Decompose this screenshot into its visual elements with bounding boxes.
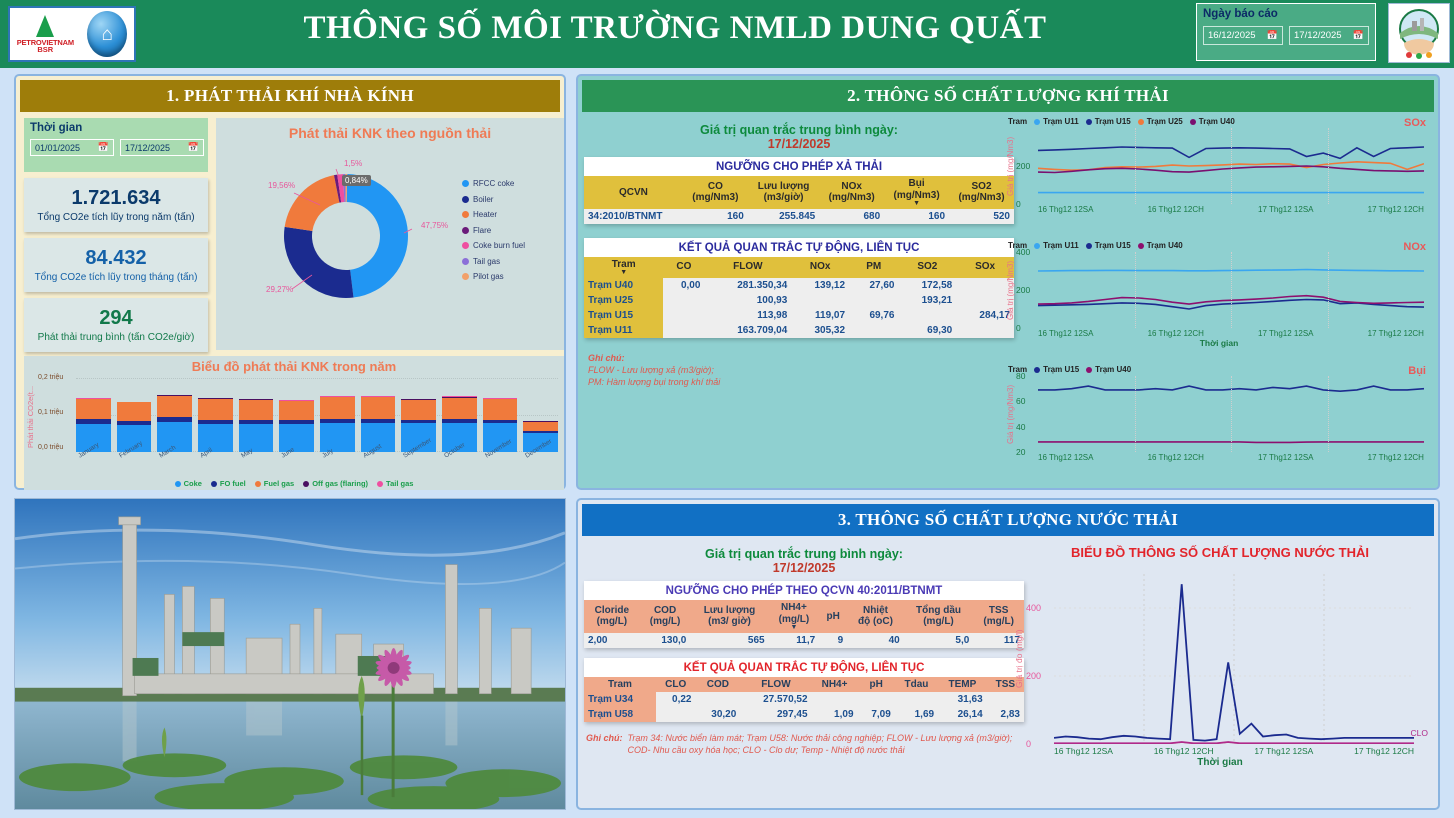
chart-plot-area: Giá trị (mg/Nm3)4002000 (1038, 252, 1424, 328)
bar-segment (117, 402, 152, 421)
column-header[interactable]: Tổng dầu(mg/L) (904, 600, 974, 633)
legend-label: Boiler (473, 195, 493, 204)
chart-xtick-label: 16 Thg12 12SA (1038, 453, 1093, 462)
bar-segment (76, 399, 111, 419)
legend-color-dot (462, 211, 469, 218)
header-line-1: TEMP (942, 679, 983, 691)
column-header[interactable]: Cloride(mg/L) (584, 600, 640, 633)
column-header[interactable]: FLOW (704, 257, 791, 278)
table-cell: 281.350,34 (704, 278, 791, 293)
table-cell (656, 707, 696, 722)
table-cell: 255.845 (748, 209, 819, 224)
chart-gridline (1231, 376, 1232, 452)
section2-average-heading: Giá trị quan trắc trung bình ngày: 17/12… (584, 123, 1014, 151)
section-air-quality: 2. THÔNG SỐ CHẤT LƯỢNG KHÍ THẢI Giá trị … (576, 74, 1440, 490)
petrovietnam-logo: PETROVIETNAM BSR (17, 15, 74, 54)
legend-color-dot (1190, 119, 1196, 125)
donut-legend-item[interactable]: Pilot gas (462, 272, 558, 281)
organization-emblem (1388, 3, 1450, 63)
chart-legend-item[interactable]: Trạm U15 (1086, 117, 1131, 126)
kpi-label: Tổng CO2e tích lũy trong tháng (tấn) (35, 272, 198, 283)
table-cell (812, 692, 858, 707)
legend-label: Flare (473, 226, 491, 235)
chart-xtick-label: 16 Thg12 12SA (1054, 746, 1113, 756)
column-header[interactable]: TEMP (938, 677, 987, 693)
legend-label: Trạm U11 (1043, 117, 1079, 126)
table-cell: 297,45 (740, 707, 811, 722)
legend-color-dot (303, 481, 309, 487)
logo-secondary-text: BSR (37, 46, 53, 54)
bar-segment (361, 397, 396, 418)
chart-ytick-label: 200 (1016, 285, 1030, 295)
header-line-1: FLOW (708, 261, 787, 273)
header-line-2: (mg/L) (644, 616, 687, 628)
table-cell: 160 (884, 209, 949, 224)
section3-average-label: Giá trị quan trắc trung bình ngày: (584, 547, 1024, 561)
report-date-from-value: 16/12/2025 (1208, 30, 1256, 41)
table-cell (858, 692, 895, 707)
legend-label: Pilot gas (473, 272, 504, 281)
table-cell: Trạm U11 (584, 323, 663, 338)
donut-label-4: 29,27% (266, 285, 293, 294)
bar-legend-item[interactable]: Off gas (flaring) (303, 479, 368, 488)
table-cell: 30,20 (695, 707, 740, 722)
header-line-1: CO (667, 261, 700, 273)
chart-gridline (1231, 252, 1232, 328)
legend-color-dot (1086, 243, 1092, 249)
chart-plot-area: Giá trị (mg/Nm3)80604020 (1038, 376, 1424, 452)
donut-legend-item[interactable]: Coke burn fuel (462, 241, 558, 250)
table-cell (898, 308, 956, 323)
table-cell (663, 308, 704, 323)
chart-ytick-label: 400 (1016, 247, 1030, 257)
column-header[interactable]: NH4+ (812, 677, 858, 693)
table-cell: 34:2010/BTNMT (584, 209, 683, 224)
header-line-1: Tram (588, 679, 652, 691)
bar-segment (279, 401, 314, 420)
header-line-1: CO (687, 181, 744, 193)
report-date-from[interactable]: 16/12/2025 📅 (1203, 26, 1283, 45)
column-header[interactable]: PM (849, 257, 898, 278)
column-header[interactable]: Tdau (895, 677, 938, 693)
legend-color-dot (1034, 367, 1040, 373)
calendar-icon[interactable]: 📅 (1267, 30, 1278, 41)
header-line-1: pH (823, 611, 843, 623)
legend-color-dot (1034, 243, 1040, 249)
section1-title: 1. PHÁT THẢI KHÍ NHÀ KÍNH (20, 80, 560, 112)
air-threshold-table[interactable]: QCVNCO(mg/Nm3)Lưu lượng(m3/giờ)NOx(mg/Nm… (584, 176, 1014, 224)
donut-chart-plot[interactable]: RFCC cokeBoilerHeaterFlareCoke burn fuel… (216, 141, 564, 331)
header-line-2: (mg/L) (908, 616, 970, 628)
header-line-1: NH4+ (773, 602, 816, 614)
header-line-2: (mg/L) (588, 616, 636, 628)
column-header[interactable]: pH (819, 600, 847, 633)
page-title: THÔNG SỐ MÔI TRƯỜNG NMLD DUNG QUẤT (150, 10, 1200, 47)
bar-segment (401, 400, 436, 420)
bar-legend-item[interactable]: Coke (175, 479, 202, 488)
donut-legend-item[interactable]: Tail gas (462, 257, 558, 266)
air-threshold-table-card: NGƯỠNG CHO PHÉP XẢ THẢI QCVNCO(mg/Nm3)Lư… (584, 157, 1014, 224)
chart-ytick-label: 200 (1016, 161, 1030, 171)
air-charts-column: TramTrạm U11Trạm U15Trạm U25Trạm U40SOxG… (1004, 117, 1434, 489)
water-threshold-table-card: NGƯỠNG CHO PHÉP THEO QCVN 40:2011/BTNMT … (584, 581, 1024, 648)
air-note-title: Ghi chú: (588, 352, 1014, 364)
chart-plot-area: Giá trị (mg/Nm3)2000 (1038, 128, 1424, 204)
column-header[interactable]: NH4+(mg/L)▼ (769, 600, 820, 633)
table-cell: 31,63 (938, 692, 987, 707)
column-header[interactable]: Lưu lượng(m3/giờ) (748, 176, 819, 209)
water-result-table-card: KẾT QUẢ QUAN TRẮC TỰ ĐỘNG, LIÊN TỤC Tram… (584, 658, 1024, 723)
header-line-1: NH4+ (816, 679, 854, 691)
legend-label: Trạm U15 (1095, 117, 1131, 126)
legend-color-dot (462, 273, 469, 280)
water-chart-xaxis: 16 Thg12 12SA16 Thg12 12CH17 Thg12 12SA1… (1054, 746, 1414, 756)
air-note-line-2: PM: Hàm lượng bụi trong khí thải (588, 376, 1014, 388)
legend-label: Trạm U11 (1043, 241, 1079, 250)
donut-legend-item[interactable]: Flare (462, 226, 558, 235)
calendar-icon[interactable]: 📅 (1353, 30, 1364, 41)
chart-xtick-label: 17 Thg12 12CH (1368, 329, 1424, 338)
chart-xtick-label: 17 Thg12 12CH (1368, 453, 1424, 462)
legend-label: Trạm U40 (1147, 241, 1183, 250)
chart-ytick-label: 40 (1016, 422, 1025, 432)
legend-color-dot (1086, 367, 1092, 373)
table-cell: Trạm U34 (584, 692, 656, 707)
time-filter-from-value: 01/01/2025 (35, 143, 80, 153)
table-cell: 7,09 (858, 707, 895, 722)
table-cell: 139,12 (791, 278, 849, 293)
air-line-chart[interactable]: TramTrạm U11Trạm U15Trạm U25Trạm U40SOxG… (1004, 117, 1434, 241)
donut-slice[interactable] (347, 174, 408, 298)
section2-title: 2. THÔNG SỐ CHẤT LƯỢNG KHÍ THẢI (582, 80, 1434, 112)
chart-ytick-label: 80 (1016, 371, 1025, 381)
donut-legend-item[interactable]: Heater (462, 210, 558, 219)
chart-xtick-label: 17 Thg12 12CH (1354, 746, 1414, 756)
column-header[interactable]: FLOW (740, 677, 811, 693)
chart-legend: TramTrạm U15Trạm U40 (1004, 365, 1434, 374)
chart-xaxis: 16 Thg12 12SA16 Thg12 12CH17 Thg12 12SA1… (1038, 205, 1424, 214)
bar-legend-item[interactable]: Fuel gas (255, 479, 294, 488)
bar-segment (320, 397, 355, 418)
table-cell: 26,14 (938, 707, 987, 722)
header-line-1: SO2 (953, 181, 1010, 193)
table-cell (663, 293, 704, 308)
column-header[interactable]: SO2 (898, 257, 956, 278)
home-icon[interactable]: ⌂ (87, 11, 127, 57)
donut-chart-title: Phát thải KNK theo nguồn thải (216, 118, 564, 141)
column-header[interactable]: NOx (791, 257, 849, 278)
table-cell: 130,0 (640, 633, 691, 648)
report-date-to[interactable]: 17/12/2025 📅 (1289, 26, 1369, 45)
table-cell: Trạm U25 (584, 293, 663, 308)
chart-xtick-label: 16 Thg12 12CH (1148, 453, 1204, 462)
chart-xtick-label: 16 Thg12 12CH (1148, 329, 1204, 338)
kpi-card-average: 294 Phát thải trung bình (tấn CO2e/giờ) (24, 298, 208, 352)
table-row[interactable]: Trạm U15113,98119,0769,76284,17 (584, 308, 1014, 323)
table-cell: Trạm U58 (584, 707, 656, 722)
water-result-table-title: KẾT QUẢ QUAN TRẮC TỰ ĐỘNG, LIÊN TỤC (584, 658, 1024, 677)
table-cell: 305,32 (791, 323, 849, 338)
table-row[interactable]: Trạm U400,00281.350,34139,1227,60172,58 (584, 278, 1014, 293)
chart-legend-item[interactable]: Trạm U25 (1138, 117, 1183, 126)
legend-label: Heater (473, 210, 497, 219)
header-line-1: Tdau (899, 679, 934, 691)
table-row[interactable]: Trạm U5830,20297,451,097,091,6926,142,83 (584, 707, 1024, 722)
chart-xtick-label: 17 Thg12 12SA (1254, 746, 1313, 756)
table-cell (663, 323, 704, 338)
kpi-card-year-total: 1.721.634 Tổng CO2e tích lũy trong năm (… (24, 178, 208, 232)
chart-gridline (1328, 376, 1329, 452)
refinery-photo (15, 499, 565, 809)
water-note-block: Ghi chú: Trạm 34: Nước biển làm mát; Trạ… (584, 732, 1024, 756)
column-header[interactable]: CO(mg/Nm3) (683, 176, 748, 209)
chart-legend-item[interactable]: Trạm U15 (1086, 241, 1131, 250)
table-cell: 160 (683, 209, 748, 224)
table-cell: 0,00 (663, 278, 704, 293)
air-line-chart[interactable]: TramTrạm U11Trạm U15Trạm U40NOxGiá trị (… (1004, 241, 1434, 365)
chart-legend-item[interactable]: Trạm U40 (1190, 117, 1235, 126)
legend-label: FO fuel (220, 479, 246, 488)
bar-segment (523, 422, 558, 431)
legend-label: Tail gas (386, 479, 413, 488)
refinery-photo-card (14, 498, 566, 810)
table-cell: 119,07 (791, 308, 849, 323)
table-cell: 9 (819, 633, 847, 648)
report-date-to-value: 17/12/2025 (1294, 30, 1342, 41)
legend-color-dot (175, 481, 181, 487)
kpi-card-month-total: 84.432 Tổng CO2e tích lũy trong tháng (t… (24, 238, 208, 292)
column-header[interactable]: COD(mg/L) (640, 600, 691, 633)
chart-xlabel: Thời gian (1004, 338, 1434, 348)
bar-segment (483, 399, 518, 420)
bar-chart-card: Biểu đồ phát thải KNK trong năm Phát thả… (24, 356, 564, 490)
header-line-1: COD (644, 605, 687, 617)
air-line-chart[interactable]: TramTrạm U15Trạm U40BụiGiá trị (mg/Nm3)8… (1004, 365, 1434, 489)
calendar-icon[interactable]: 📅 (98, 142, 109, 153)
bar-chart-ylabel: Phát thải CO2e(t... (26, 382, 40, 452)
air-note-block: Ghi chú: FLOW - Lưu lượng xả (m3/giờ); P… (584, 352, 1014, 388)
chart-legend: TramTrạm U11Trạm U15Trạm U40 (1004, 241, 1434, 250)
header-line-1: COD (699, 679, 736, 691)
air-result-table-card: KẾT QUẢ QUAN TRẮC TỰ ĐỘNG, LIÊN TỤC Tram… (584, 238, 1014, 338)
water-chart-title: BIỂU ĐỒ THÔNG SỐ CHẤT LƯỢNG NƯỚC THẢI (1010, 541, 1430, 560)
header-line-1: NOx (823, 181, 880, 193)
legend-label: Trạm U25 (1147, 117, 1183, 126)
legend-color-dot (1034, 119, 1040, 125)
table-cell: 113,98 (704, 308, 791, 323)
section2-average-label: Giá trị quan trắc trung bình ngày: (584, 123, 1014, 137)
section3-average-date: 17/12/2025 (584, 561, 1024, 575)
water-chart-card: BIỂU ĐỒ THÔNG SỐ CHẤT LƯỢNG NƯỚC THẢI Gi… (1010, 541, 1430, 807)
column-header[interactable]: NOx(mg/Nm3) (819, 176, 884, 209)
table-cell: 163.709,04 (704, 323, 791, 338)
section3-average-heading: Giá trị quan trắc trung bình ngày: 17/12… (584, 547, 1024, 575)
company-logo: PETROVIETNAM BSR ⌂ (8, 6, 136, 62)
water-chart-plot[interactable]: Giá trị đo (mg/l) CLO 4002000 (1054, 574, 1414, 744)
header-line-1: SOx (960, 261, 1010, 273)
header-line-1: Cloride (588, 605, 636, 617)
kpi-value: 294 (99, 307, 132, 330)
air-threshold-table-title: NGƯỠNG CHO PHÉP XẢ THẢI (584, 157, 1014, 176)
water-chart-svg (1054, 574, 1414, 744)
chart-gridline (1135, 376, 1136, 452)
table-cell: 1,69 (895, 707, 938, 722)
bar-ytick-2: 0,0 triệu (38, 444, 63, 451)
header-line-2: (m3/ giờ) (694, 616, 764, 628)
water-threshold-table-title: NGƯỠNG CHO PHÉP THEO QCVN 40:2011/BTNMT (584, 581, 1024, 600)
chart-ytick-label: 400 (1026, 603, 1041, 613)
chart-legend-item[interactable]: Trạm U40 (1086, 365, 1131, 374)
header-line-2: (m3/giờ) (752, 192, 815, 204)
column-header[interactable]: Lưu lượng(m3/ giờ) (690, 600, 768, 633)
legend-color-dot (462, 242, 469, 249)
chart-ytick-label: 0 (1016, 323, 1021, 333)
header-line-1: Tổng dầu (908, 605, 970, 617)
chart-legend-item[interactable]: Trạm U15 (1034, 365, 1079, 374)
table-row[interactable]: 2,00130,056511,79405,0117 (584, 633, 1024, 648)
water-threshold-table[interactable]: Cloride(mg/L)COD(mg/L)Lưu lượng(m3/ giờ)… (584, 600, 1024, 648)
column-header[interactable]: Nhiệtđộ (oC) (847, 600, 903, 633)
table-cell (849, 323, 898, 338)
legend-label: RFCC coke (473, 179, 514, 188)
time-filter-card: Thời gian 01/01/2025 📅 17/12/2025 📅 (24, 118, 208, 172)
bar-segment (239, 400, 274, 420)
column-header[interactable]: CO (663, 257, 704, 278)
header-line-1: pH (862, 679, 891, 691)
legend-label: Coke (184, 479, 202, 488)
column-header[interactable]: Tram (584, 677, 656, 693)
column-header[interactable]: COD (695, 677, 740, 693)
column-header[interactable]: pH (858, 677, 895, 693)
air-note-line-1: FLOW - Lưu lượng xả (m3/giờ); (588, 364, 1014, 376)
header-line-1: Lưu lượng (752, 181, 815, 193)
donut-label-1: 1,5% (344, 159, 362, 168)
legend-color-dot (1138, 243, 1144, 249)
table-row[interactable]: Trạm U340,2227.570,5231,63 (584, 692, 1024, 707)
chart-xtick-label: 16 Thg12 12SA (1038, 329, 1093, 338)
chart-gridline (1135, 252, 1136, 328)
chart-ytick-label: 60 (1016, 396, 1025, 406)
table-cell: 193,21 (898, 293, 956, 308)
chart-xtick-label: 16 Thg12 12SA (1038, 205, 1093, 214)
header-line-2: (mg/Nm3) (687, 192, 744, 204)
column-header[interactable]: CLO (656, 677, 696, 693)
chart-legend: TramTrạm U11Trạm U15Trạm U25Trạm U40 (1004, 117, 1434, 126)
table-cell: 5,0 (904, 633, 974, 648)
table-cell: 172,58 (898, 278, 956, 293)
time-filter-label: Thời gian (30, 122, 202, 134)
legend-title: Tram (1008, 117, 1027, 126)
bar-segment (198, 399, 233, 420)
chart-gridline (1231, 128, 1232, 204)
kpi-label: Phát thải trung bình (tấn CO2e/giờ) (38, 332, 195, 343)
donut-label-3: 47,75% (421, 221, 448, 230)
bar-legend-item[interactable]: Tail gas (377, 479, 413, 488)
table-cell: 69,76 (849, 308, 898, 323)
header-line-1: SO2 (902, 261, 952, 273)
legend-label: Tail gas (473, 257, 500, 266)
table-cell: 40 (847, 633, 903, 648)
table-cell: 680 (819, 209, 884, 224)
section2-average-date: 17/12/2025 (584, 137, 1014, 151)
chart-xtick-label: 17 Thg12 12CH (1368, 205, 1424, 214)
bar-legend-item[interactable]: FO fuel (211, 479, 246, 488)
chart-legend-item[interactable]: Trạm U11 (1034, 241, 1079, 250)
table-cell: 2,00 (584, 633, 640, 648)
legend-label: Off gas (flaring) (312, 479, 368, 488)
donut-legend-item[interactable]: Boiler (462, 195, 558, 204)
legend-color-dot (211, 481, 217, 487)
legend-label: Trạm U40 (1199, 117, 1235, 126)
table-cell: 69,30 (898, 323, 956, 338)
donut-chart-card: Phát thải KNK theo nguồn thải RFCC cokeB… (216, 118, 564, 350)
table-cell: 565 (690, 633, 768, 648)
chart-series-line (1054, 742, 1414, 743)
header-line-2: (mg/Nm3) (823, 192, 880, 204)
water-result-table[interactable]: TramCLOCODFLOWNH4+pHTdauTEMPTSSTrạm U340… (584, 677, 1024, 723)
table-row[interactable]: Trạm U11163.709,04305,3269,30 (584, 323, 1014, 338)
chart-xtick-label: 16 Thg12 12CH (1148, 205, 1204, 214)
donut-legend-item[interactable]: RFCC coke (462, 179, 558, 188)
table-cell: 0,22 (656, 692, 696, 707)
section-water-quality: 3. THÔNG SỐ CHẤT LƯỢNG NƯỚC THẢI Giá trị… (576, 498, 1440, 810)
flame-icon (36, 15, 54, 37)
header-line-1: NOx (795, 261, 845, 273)
table-cell (695, 692, 740, 707)
donut-legend: RFCC cokeBoilerHeaterFlareCoke burn fuel… (462, 179, 558, 281)
kpi-value: 1.721.634 (72, 187, 161, 210)
section-greenhouse-gas: 1. PHÁT THẢI KHÍ NHÀ KÍNH Thời gian 01/0… (14, 74, 566, 490)
column-header[interactable]: QCVN (584, 176, 683, 209)
time-filter-to[interactable]: 17/12/2025 📅 (120, 139, 204, 156)
header-line-1: Nhiệt (851, 605, 899, 617)
section3-title: 3. THÔNG SỐ CHẤT LƯỢNG NƯỚC THẢI (582, 504, 1434, 536)
header-line-1: PM (853, 261, 894, 273)
donut-label-2: 19,56% (268, 181, 295, 190)
table-cell: Trạm U40 (584, 278, 663, 293)
chart-legend-item[interactable]: Trạm U40 (1138, 241, 1183, 250)
time-filter-from[interactable]: 01/01/2025 📅 (30, 139, 114, 156)
header-line-2: độ (oC) (851, 616, 899, 628)
chart-ytick-label: 20 (1016, 447, 1025, 457)
table-cell: Trạm U15 (584, 308, 663, 323)
chart-ytick-label: 0 (1026, 739, 1031, 749)
chart-gridline (1328, 252, 1329, 328)
column-header[interactable]: Tram▼ (584, 257, 663, 278)
table-cell (849, 293, 898, 308)
column-header[interactable]: Bụi(mg/Nm3)▼ (884, 176, 949, 209)
bar-segment (442, 398, 477, 419)
legend-color-dot (1138, 119, 1144, 125)
chart-xtick-label: 17 Thg12 12SA (1258, 453, 1313, 462)
chart-legend-item[interactable]: Trạm U11 (1034, 117, 1079, 126)
table-cell: 1,09 (812, 707, 858, 722)
header-line-1: Bụi (888, 178, 945, 190)
header-line-1: CLO (660, 679, 692, 691)
calendar-icon[interactable]: 📅 (188, 142, 199, 153)
report-date-label: Ngày báo cáo (1203, 8, 1369, 20)
legend-label: Trạm U15 (1095, 241, 1131, 250)
legend-color-dot (377, 481, 383, 487)
chart-gridline (1328, 128, 1329, 204)
bar-chart-title: Biểu đồ phát thải KNK trong năm (24, 356, 564, 374)
emblem-graphic (1390, 5, 1448, 61)
header-line-1: FLOW (744, 679, 807, 691)
air-result-table[interactable]: Tram▼COFLOWNOxPMSO2SOxTrạm U400,00281.35… (584, 257, 1014, 338)
table-row[interactable]: Trạm U25100,93193,21 (584, 293, 1014, 308)
table-row[interactable]: 34:2010/BTNMT160255.845680160520 (584, 209, 1014, 224)
water-chart-series-tag: CLO (1411, 728, 1428, 738)
